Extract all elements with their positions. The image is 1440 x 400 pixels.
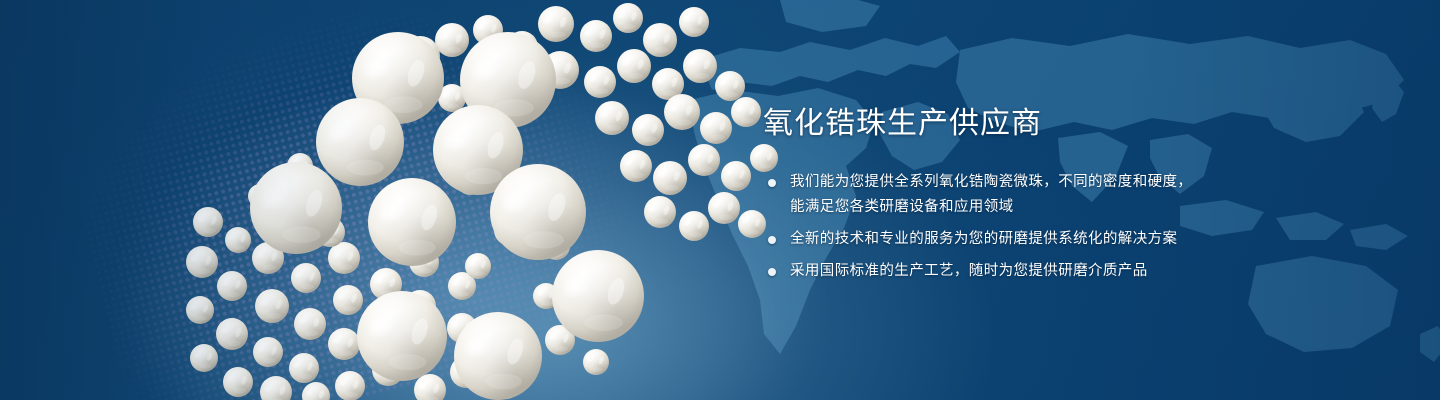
- bullet-item-1: 我们能为您提供全系列氧化锆陶瓷微珠，不同的密度和硬度， 能满足您各类研磨设备和应…: [763, 170, 1323, 220]
- bullet-dot-icon: [768, 236, 776, 244]
- bullet-item-2-line-1: 全新的技术和专业的服务为您的研磨提供系统化的解决方案: [790, 231, 1177, 247]
- bullet-dot-icon: [768, 268, 776, 276]
- bullet-item-2: 全新的技术和专业的服务为您的研磨提供系统化的解决方案: [763, 227, 1323, 252]
- bullet-item-1-line-2: 能满足您各类研磨设备和应用领域: [790, 195, 1323, 220]
- banner-headline: 氧化锆珠生产供应商: [763, 104, 1323, 144]
- bullet-item-3-line-1: 采用国际标准的生产工艺，随时为您提供研磨介质产品: [790, 263, 1148, 279]
- banner-bullet-list: 我们能为您提供全系列氧化锆陶瓷微珠，不同的密度和硬度， 能满足您各类研磨设备和应…: [763, 170, 1323, 284]
- bullet-dot-icon: [768, 179, 776, 187]
- banner-copy: 氧化锆珠生产供应商 我们能为您提供全系列氧化锆陶瓷微珠，不同的密度和硬度， 能满…: [763, 104, 1323, 284]
- hero-banner: 氧化锆珠生产供应商 我们能为您提供全系列氧化锆陶瓷微珠，不同的密度和硬度， 能满…: [0, 0, 1440, 400]
- bullet-item-3: 采用国际标准的生产工艺，随时为您提供研磨介质产品: [763, 259, 1323, 284]
- bullet-item-1-line-1: 我们能为您提供全系列氧化锆陶瓷微珠，不同的密度和硬度，: [790, 174, 1192, 190]
